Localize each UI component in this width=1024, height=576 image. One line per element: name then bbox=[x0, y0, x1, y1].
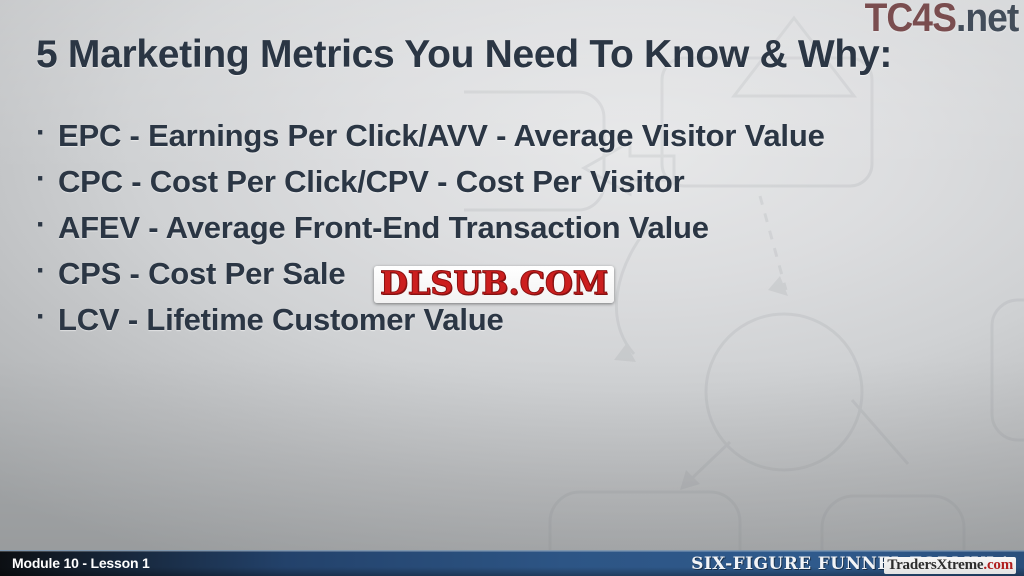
dlsub-watermark: DLSUB.COM bbox=[374, 266, 614, 303]
module-lesson-label: Module 10 - Lesson 1 bbox=[12, 555, 150, 571]
list-item-label: CPS - Cost Per Sale bbox=[58, 256, 345, 292]
tc4s-watermark: TC4S.net bbox=[864, 0, 1018, 41]
page-title: 5 Marketing Metrics You Need To Know & W… bbox=[36, 33, 892, 77]
list-item: EPC - Earnings Per Click/AVV - Average V… bbox=[36, 118, 1016, 164]
tradersxtreme-watermark: TradersXtreme.com bbox=[884, 557, 1016, 574]
list-item: LCV - Lifetime Customer Value bbox=[36, 302, 1016, 348]
list-item-label: EPC - Earnings Per Click/AVV - Average V… bbox=[58, 118, 825, 154]
tc4s-watermark-tld: .net bbox=[956, 0, 1018, 40]
tradersxtreme-watermark-name: TradersXtreme bbox=[887, 557, 983, 573]
bullet-marker-icon bbox=[36, 210, 58, 240]
metrics-list: EPC - Earnings Per Click/AVV - Average V… bbox=[36, 118, 1016, 348]
bullet-marker-icon bbox=[36, 164, 58, 194]
tradersxtreme-watermark-tld: .com bbox=[983, 557, 1013, 573]
bullet-marker-icon bbox=[36, 256, 58, 286]
list-item: CPC - Cost Per Click/CPV - Cost Per Visi… bbox=[36, 164, 1016, 210]
tc4s-watermark-name: TC4S bbox=[864, 0, 955, 40]
list-item-label: LCV - Lifetime Customer Value bbox=[58, 302, 504, 338]
slide-canvas: 5 Marketing Metrics You Need To Know & W… bbox=[0, 0, 1024, 576]
bullet-marker-icon bbox=[36, 302, 58, 332]
footer-bar: Module 10 - Lesson 1 SIX-FIGURE FUNNEL F… bbox=[0, 550, 1024, 576]
list-item: AFEV - Average Front-End Transaction Val… bbox=[36, 210, 1016, 256]
list-item-label: AFEV - Average Front-End Transaction Val… bbox=[58, 210, 709, 246]
bullet-marker-icon bbox=[36, 118, 58, 148]
list-item-label: CPC - Cost Per Click/CPV - Cost Per Visi… bbox=[58, 164, 685, 200]
